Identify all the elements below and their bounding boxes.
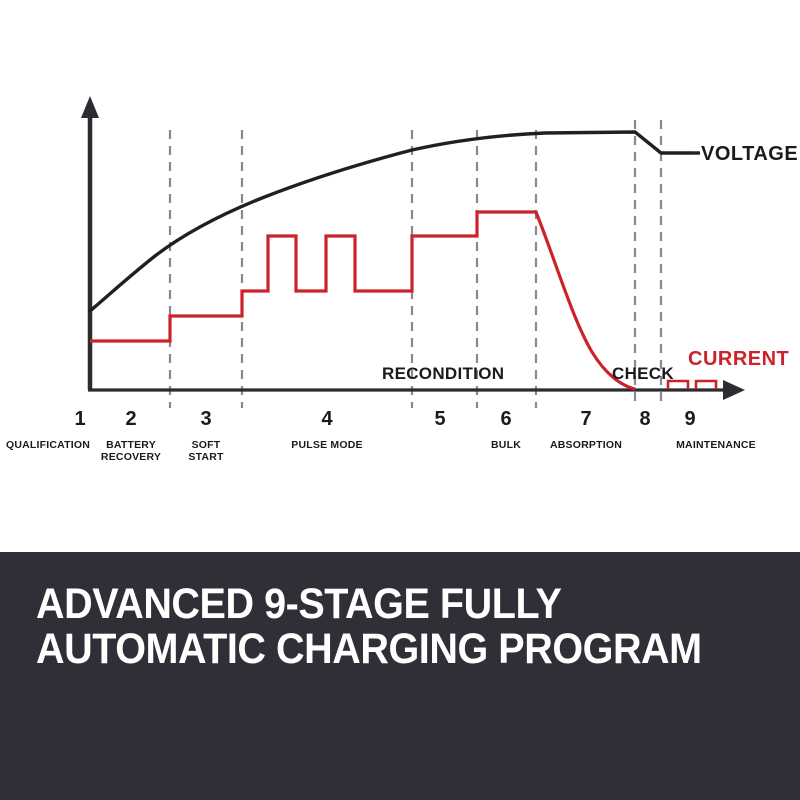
chart-area: VOLTAGE CURRENT RECONDITION CHECK 1 2 3 …: [0, 0, 800, 552]
y-axis-arrow: [81, 96, 99, 118]
stage-number-7: 7: [580, 408, 591, 431]
stage-name-absorption: ABSORPTION: [550, 439, 622, 451]
stage-number-4: 4: [321, 408, 332, 431]
maintenance-pulse-2: [696, 381, 716, 389]
stage-number-1: 1: [74, 408, 85, 431]
voltage-curve: [90, 132, 690, 311]
title-banner-text: ADVANCED 9-STAGE FULLY AUTOMATIC CHARGIN…: [36, 582, 780, 672]
stage-name-battery-recovery-line1: BATTERY: [101, 439, 161, 451]
stage-name-maintenance: MAINTENANCE: [676, 439, 756, 451]
phase-label-recondition: RECONDITION: [382, 364, 504, 384]
stage-number-6: 6: [500, 408, 511, 431]
stage-name-soft-start-line2: START: [188, 451, 223, 463]
y-axis: [81, 96, 99, 390]
stage-name-battery-recovery-line2: RECOVERY: [101, 451, 161, 463]
stage-number-3: 3: [200, 408, 211, 431]
charging-program-chart: [0, 0, 800, 552]
phase-label-check: CHECK: [612, 364, 674, 384]
current-curve: [90, 212, 635, 389]
x-axis-arrow: [723, 380, 745, 400]
banner-title-line-1: ADVANCED 9-STAGE FULLY: [36, 582, 720, 627]
banner-title-line-2: AUTOMATIC CHARGING PROGRAM: [36, 627, 720, 672]
stage-name-soft-start: SOFT START: [188, 439, 223, 463]
stage-number-8: 8: [639, 408, 650, 431]
title-banner: ADVANCED 9-STAGE FULLY AUTOMATIC CHARGIN…: [0, 552, 800, 800]
stage-number-2: 2: [125, 408, 136, 431]
stage-name-soft-start-line1: SOFT: [188, 439, 223, 451]
stage-number-9: 9: [684, 408, 695, 431]
stage-name-bulk: BULK: [491, 439, 521, 451]
current-series-label: CURRENT: [688, 348, 789, 371]
voltage-series-label: VOLTAGE: [701, 143, 798, 166]
stage-name-battery-recovery: BATTERY RECOVERY: [101, 439, 161, 463]
maintenance-pulses: [668, 381, 716, 389]
stage-number-5: 5: [434, 408, 445, 431]
stage-name-pulse-mode: PULSE MODE: [291, 439, 362, 451]
infographic-root: VOLTAGE CURRENT RECONDITION CHECK 1 2 3 …: [0, 0, 800, 800]
stage-name-qualification: QUALIFICATION: [6, 439, 90, 451]
